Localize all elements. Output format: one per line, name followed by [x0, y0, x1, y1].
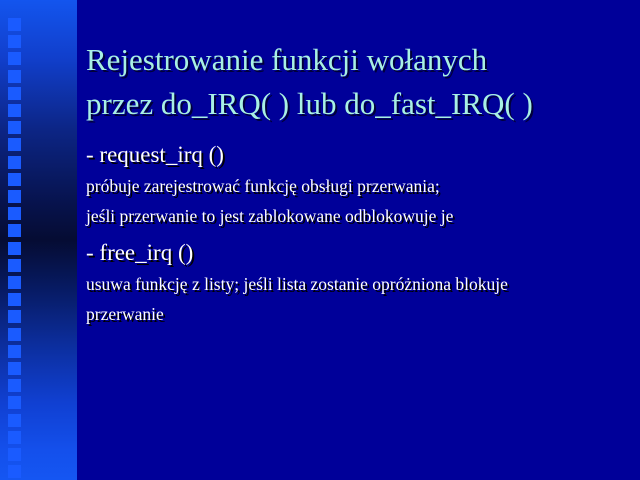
slide-body: - request_irq () próbuje zarejestrować f… [86, 138, 640, 329]
presentation-slide: Rejestrowanie funkcji wołanych przez do_… [0, 0, 640, 480]
sidebar-square [8, 242, 21, 255]
sidebar-square [8, 310, 21, 323]
sidebar-square-strip [8, 0, 21, 480]
sidebar-square [8, 104, 21, 117]
sidebar-square [8, 414, 21, 427]
sidebar-square [8, 431, 21, 444]
slide-title: Rejestrowanie funkcji wołanych przez do_… [86, 38, 640, 126]
sidebar-square [8, 70, 21, 83]
sidebar-square [8, 328, 21, 341]
sidebar-square [8, 276, 21, 289]
sidebar-square [8, 207, 21, 220]
sidebar-square [8, 362, 21, 375]
bullet-desc-free-irq-line-2: przerwanie [86, 299, 640, 329]
sidebar-square [8, 345, 21, 358]
bullet-heading-request-irq: - request_irq () [86, 138, 640, 171]
sidebar-square [8, 259, 21, 272]
bullet-desc-request-irq-line-2: jeśli przerwanie to jest zablokowane odb… [86, 201, 640, 231]
sidebar-square [8, 52, 21, 65]
bullet-heading-free-irq: - free_irq () [86, 236, 640, 269]
sidebar-square [8, 121, 21, 134]
sidebar-square [8, 173, 21, 186]
sidebar-square [8, 396, 21, 409]
slide-content-area: Rejestrowanie funkcji wołanych przez do_… [77, 0, 640, 480]
sidebar-square [8, 156, 21, 169]
bullet-desc-request-irq-line-1: próbuje zarejestrować funkcję obsługi pr… [86, 171, 640, 201]
sidebar-square [8, 448, 21, 461]
slide-title-line-2: przez do_IRQ( ) lub do_fast_IRQ( ) [86, 82, 640, 126]
slide-title-line-1: Rejestrowanie funkcji wołanych [86, 38, 640, 82]
slide-decorative-sidebar [0, 0, 77, 480]
sidebar-square [8, 138, 21, 151]
sidebar-square [8, 35, 21, 48]
sidebar-square [8, 87, 21, 100]
sidebar-square [8, 224, 21, 237]
sidebar-square [8, 465, 21, 478]
sidebar-square [8, 379, 21, 392]
bullet-desc-free-irq-line-1: usuwa funkcję z listy; jeśli lista zosta… [86, 269, 640, 299]
sidebar-square [8, 190, 21, 203]
sidebar-square [8, 18, 21, 31]
sidebar-square [8, 293, 21, 306]
